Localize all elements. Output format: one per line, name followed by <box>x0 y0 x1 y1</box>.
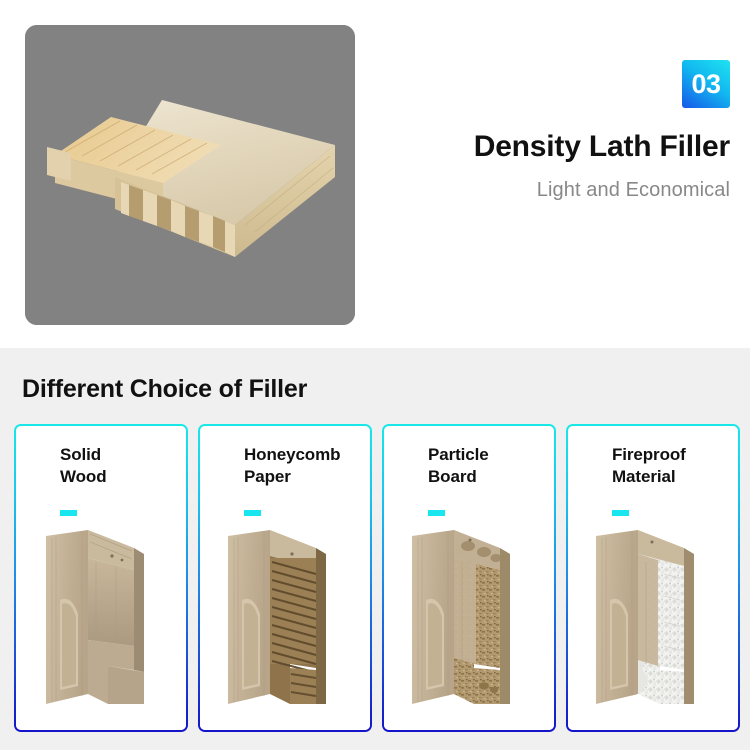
card-inner: SolidWood <box>16 426 186 730</box>
filler-card-honeycomb-paper[interactable]: HoneycombPaper <box>198 424 372 732</box>
honeycomb-paper-section-illustration <box>200 514 370 722</box>
hero-product-photo <box>25 25 355 325</box>
card-title: SolidWood <box>60 444 107 489</box>
card-inner: FireproofMaterial <box>568 426 738 730</box>
card-figure-solid-wood <box>16 514 186 722</box>
filler-card-particle-board[interactable]: ParticleBoard <box>382 424 556 732</box>
filler-choices-section: Different Choice of Filler SolidWood <box>0 348 750 750</box>
card-inner: HoneycombPaper <box>200 426 370 730</box>
page-root: 03 Density Lath Filler Light and Economi… <box>0 0 750 750</box>
card-title: ParticleBoard <box>428 444 489 489</box>
lath-panel-illustration <box>25 25 355 325</box>
step-number-badge: 03 <box>682 60 730 108</box>
hero-title: Density Lath Filler <box>400 130 730 163</box>
filler-card-solid-wood[interactable]: SolidWood <box>14 424 188 732</box>
filler-card-list: SolidWood <box>14 424 740 732</box>
card-title: HoneycombPaper <box>244 444 340 489</box>
solid-wood-section-illustration <box>16 514 186 722</box>
hero-subtitle: Light and Economical <box>400 179 730 202</box>
hero-section: 03 Density Lath Filler Light and Economi… <box>0 0 750 348</box>
card-figure-honeycomb-paper <box>200 514 370 722</box>
card-inner: ParticleBoard <box>384 426 554 730</box>
card-figure-fireproof-material <box>568 514 738 722</box>
card-title: FireproofMaterial <box>612 444 686 489</box>
hero-text-block: 03 Density Lath Filler Light and Economi… <box>400 60 730 202</box>
particle-board-section-illustration <box>384 514 554 722</box>
section-title: Different Choice of Filler <box>22 375 307 404</box>
card-figure-particle-board <box>384 514 554 722</box>
filler-card-fireproof-material[interactable]: FireproofMaterial <box>566 424 740 732</box>
fireproof-material-section-illustration <box>568 514 738 722</box>
